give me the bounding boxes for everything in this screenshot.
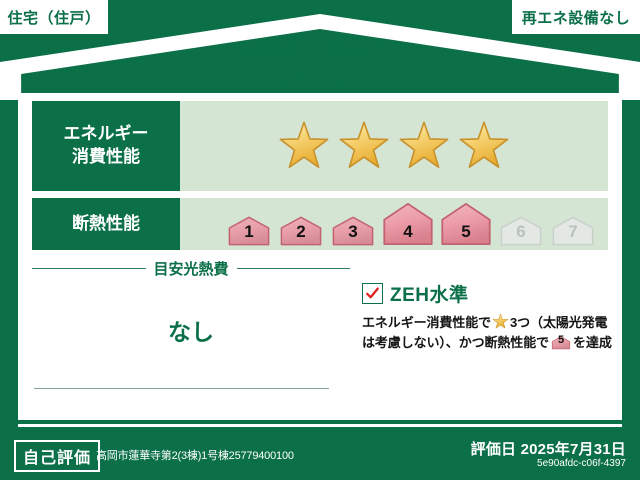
utility-cost-value: なし [32, 313, 350, 347]
row-energy-value [180, 101, 608, 191]
row-insulation-value: 1234567 [180, 198, 608, 250]
zeh-description: エネルギー消費性能で3つ（太陽光発電は考慮しない）、かつ断熱性能で5を達成 [362, 313, 612, 353]
rule-right [237, 268, 351, 269]
property-address: 高岡市蓮華寺第2(3棟)1号棟25779400100 [96, 447, 294, 463]
utility-cost-underline [34, 388, 329, 389]
zeh-header: ZEH水準 [362, 280, 612, 307]
insulation-house-icon [224, 209, 274, 247]
star-icon [276, 119, 332, 173]
utility-cost-header: 目安光熱費 [32, 258, 350, 279]
row-insulation-label-line1: 断熱性能 [72, 213, 140, 236]
lower-section: 目安光熱費 なし ZEH水準 エネルギー消費性能で3つ（太陽光発電は考慮しな [32, 258, 608, 408]
badge-renewable-energy: 再エネ設備なし [512, 0, 640, 34]
rule-left [32, 268, 146, 269]
insulation-level-4: 4 [380, 201, 436, 247]
insulation-level-7: 7 [548, 209, 598, 247]
insulation-level-2: 2 [276, 209, 326, 247]
zeh-checkbox [362, 283, 383, 304]
star-icon [492, 313, 509, 330]
inline-house-badge: 5 [549, 333, 573, 350]
zeh-desc-part3: を達成 [573, 335, 612, 350]
check-icon [365, 286, 380, 301]
insulation-level-1: 1 [224, 209, 274, 247]
star-icon [396, 119, 452, 173]
self-evaluation-badge: 自己評価 [14, 440, 100, 472]
row-energy-label-line2: 消費性能 [72, 146, 140, 169]
evaluation-id: 5e90afdc-c06f-4397 [537, 458, 626, 469]
title-block: 建築物省エネ法に基づく 省エネ性能ラベル [0, 38, 640, 98]
insulation-house-icon [276, 209, 326, 247]
row-energy-label-line1: エネルギー [64, 123, 149, 146]
zeh-inline-star-slot [491, 315, 510, 330]
zeh-block: ZEH水準 エネルギー消費性能で3つ（太陽光発電は考慮しない）、かつ断熱性能で5… [362, 280, 612, 353]
insulation-house-icon [496, 209, 546, 247]
utility-cost-block: 目安光熱費 なし [32, 258, 350, 347]
star-rating [276, 119, 512, 173]
page-title: 省エネ性能ラベル [0, 61, 640, 98]
row-energy-label: エネルギー 消費性能 [32, 101, 180, 191]
insulation-house-icon [380, 201, 436, 247]
row-energy-performance: エネルギー 消費性能 [32, 101, 608, 191]
zeh-desc-part1: エネルギー消費性能で [362, 315, 491, 330]
utility-cost-title: 目安光熱費 [154, 258, 229, 279]
main-panel: エネルギー 消費性能 断熱性能 1234567 目安光熱費 [18, 93, 622, 420]
row-insulation-performance: 断熱性能 1234567 [32, 198, 608, 250]
insulation-level-3: 3 [328, 209, 378, 247]
zeh-title: ZEH水準 [390, 280, 469, 307]
evaluation-date: 評価日 2025年7月31日 [471, 438, 626, 459]
insulation-house-icon [549, 333, 573, 350]
insulation-house-icon [328, 209, 378, 247]
row-insulation-label: 断熱性能 [32, 198, 180, 250]
footer: 自己評価 高岡市蓮華寺第2(3棟)1号棟25779400100 評価日 2025… [0, 424, 640, 480]
footer-divider [18, 424, 622, 427]
zeh-inline-house-slot: 5 [549, 335, 573, 350]
star-icon [336, 119, 392, 173]
insulation-level-5: 5 [438, 201, 494, 247]
energy-label-root: 住宅（住戸） 再エネ設備なし 建築物省エネ法に基づく 省エネ性能ラベル エネルギ… [0, 0, 640, 480]
title-subtitle: 建築物省エネ法に基づく [0, 38, 640, 58]
insulation-house-icon [438, 201, 494, 247]
insulation-house-icon [548, 209, 598, 247]
star-icon [456, 119, 512, 173]
insulation-scale: 1234567 [224, 201, 600, 247]
badge-building-type: 住宅（住戸） [0, 0, 108, 34]
insulation-level-6: 6 [496, 209, 546, 247]
